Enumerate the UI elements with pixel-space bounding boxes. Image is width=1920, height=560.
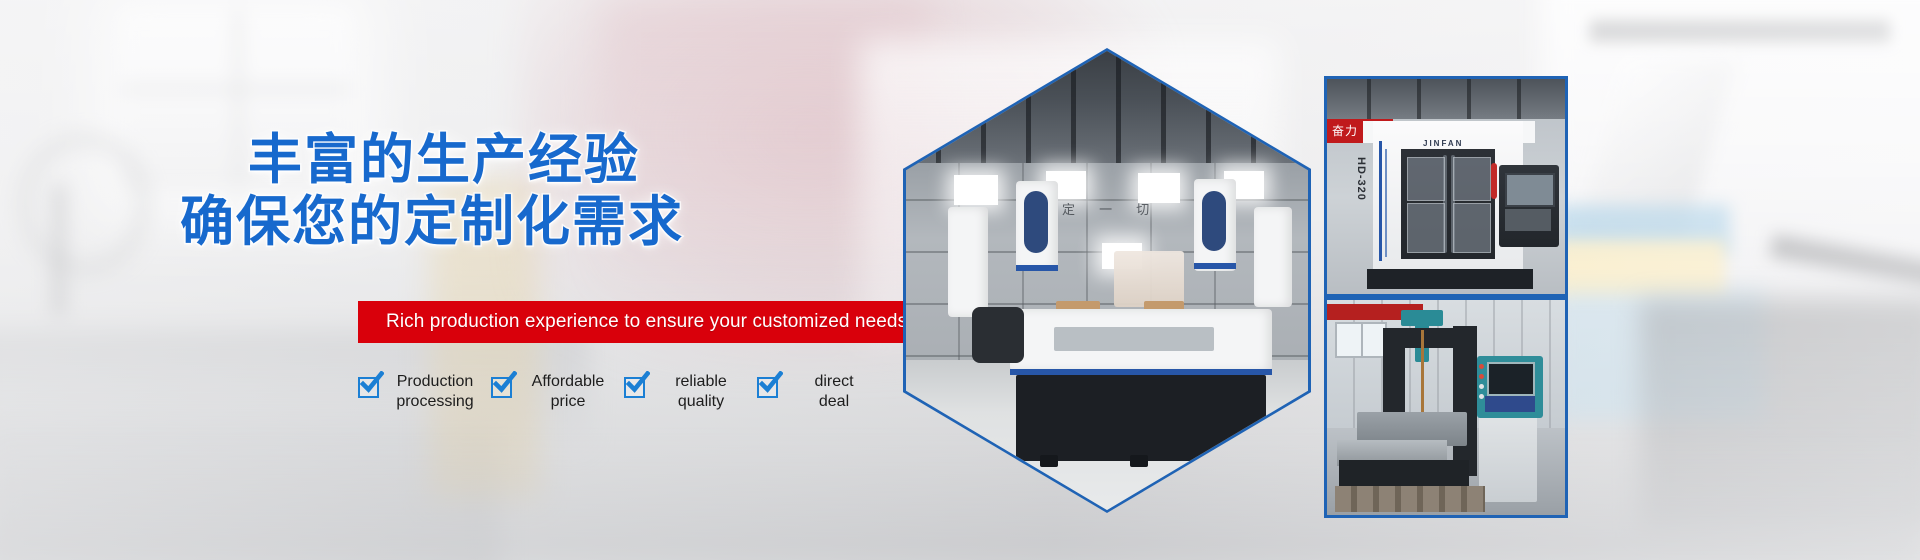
photo1-door-window: [1407, 157, 1445, 201]
photo2-indicator-light: [1479, 364, 1484, 369]
photo1-blue-stripe-secondary: [1385, 149, 1387, 257]
photo1-door-window: [1407, 203, 1445, 253]
machine-column-far-right: [1254, 207, 1292, 307]
workshop-roof: [906, 51, 1308, 171]
photo2-wooden-pallet: [1335, 486, 1485, 512]
photo1-door-window: [1453, 157, 1491, 201]
feature-label-line-1: Production: [397, 373, 474, 390]
feature-label: reliable quality: [653, 372, 749, 412]
photo1-control-screen: [1505, 173, 1555, 207]
photo2-control-panel: [1485, 396, 1535, 412]
headline-line-1: 丰富的生产经验: [0, 128, 840, 190]
photo2-control-screen: [1487, 362, 1535, 396]
side-photo-machining-center: 奋力 JINFAN HD-320: [1324, 76, 1568, 297]
checkbox-checked-icon: [757, 377, 778, 398]
headline: 丰富的生产经验 确保您的定制化需求: [0, 128, 840, 252]
feature-item: direct deal: [757, 372, 890, 412]
feature-label-line-1: reliable: [675, 373, 727, 390]
photo2-wire-electrode: [1421, 330, 1424, 424]
photo2-crossbeam: [1383, 328, 1477, 348]
headline-line-2: 确保您的定制化需求: [0, 190, 840, 252]
machine-panel-navy: [1202, 191, 1226, 251]
machine-foot: [1218, 455, 1236, 467]
promo-banner: 丰富的生产经验 确保您的定制化需求 Rich production experi…: [0, 0, 1920, 560]
machine-blue-trim: [1194, 263, 1236, 269]
checkbox-checked-icon: [491, 377, 512, 398]
feature-label-line-1: direct: [814, 373, 853, 390]
photo2-indicator-light: [1479, 384, 1484, 389]
conveyor-duct: [972, 307, 1024, 363]
side-photo-edm-machine: [1324, 297, 1568, 518]
feature-label-line-1: Affordable: [532, 373, 605, 390]
machine-window-slot: [1054, 327, 1214, 351]
feature-label-line-2: processing: [396, 393, 473, 410]
checkbox-checked-icon: [358, 377, 379, 398]
checkbox-checked-icon: [624, 377, 645, 398]
photo1-door-window: [1453, 203, 1491, 253]
photo1-control-keypad: [1505, 209, 1551, 231]
machine-foot: [1130, 455, 1148, 467]
feature-item: Production processing: [358, 372, 491, 412]
hero-photo-hexagon: 定 一 切: [903, 48, 1311, 513]
photo2-indicator-light: [1479, 374, 1484, 379]
feature-list: Production processing Affordable price r…: [358, 372, 890, 412]
feature-label: Affordable price: [520, 372, 616, 412]
photo2-indicator-light: [1479, 394, 1484, 399]
photo2-window: [1335, 322, 1387, 358]
sub-banner: Rich production experience to ensure you…: [358, 301, 904, 343]
photo1-brand-text: JINFAN: [1423, 139, 1463, 148]
machine-column-left: [948, 207, 988, 317]
feature-item: reliable quality: [624, 372, 757, 412]
feature-label-line-2: price: [551, 393, 586, 410]
photo2-column-right: [1453, 326, 1477, 476]
feature-label-line-2: quality: [678, 393, 724, 410]
machine-base-block: [1016, 375, 1266, 461]
workshop-window: [954, 175, 998, 205]
feature-label: direct deal: [786, 372, 882, 412]
photo1-blue-stripe: [1379, 141, 1382, 261]
photo1-machine-plinth: [1367, 269, 1533, 289]
machine-foot: [1040, 455, 1058, 467]
feature-item: Affordable price: [491, 372, 624, 412]
sub-banner-text: Rich production experience to ensure you…: [358, 311, 907, 333]
photo1-banner-text: 奋力: [1332, 122, 1358, 139]
workshop-wall-sign: 定 一 切: [1062, 199, 1159, 218]
photo1-roof: [1327, 79, 1565, 119]
machine-blue-trim: [1016, 265, 1058, 271]
feature-label: Production processing: [387, 372, 483, 412]
machine-panel-navy: [1024, 191, 1048, 253]
wrapped-pallet: [1114, 251, 1184, 307]
photo1-red-accent: [1491, 163, 1497, 199]
feature-label-line-2: deal: [819, 393, 849, 410]
hero-photo-image: 定 一 切: [906, 51, 1308, 510]
photo1-model-label: HD-320: [1355, 157, 1367, 201]
